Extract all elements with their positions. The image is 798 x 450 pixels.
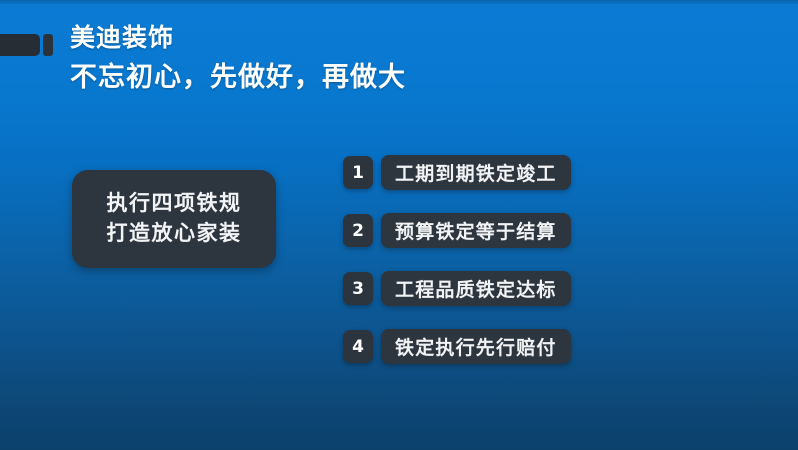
list-item-number: 1: [343, 156, 373, 189]
list-item: 2 预算铁定等于结算: [343, 213, 643, 248]
callout-card: 执行四项铁规 打造放心家装: [72, 170, 276, 268]
list-item-number: 4: [343, 330, 373, 363]
callout-line-2: 打造放心家装: [107, 219, 242, 249]
list-item-label: 工程品质铁定达标: [381, 271, 571, 306]
list-item: 1 工期到期铁定竣工: [343, 155, 643, 190]
list-item-label: 铁定执行先行赔付: [381, 329, 571, 364]
slide-slogan: 不忘初心，先做好，再做大: [70, 62, 670, 94]
slide-header: 美迪装饰 不忘初心，先做好，再做大: [70, 24, 670, 94]
list-item: 4 铁定执行先行赔付: [343, 329, 643, 364]
top-accent-band: [0, 0, 798, 4]
decorative-bar-icon: [0, 34, 40, 56]
slide-canvas: 美迪装饰 不忘初心，先做好，再做大 执行四项铁规 打造放心家装 1 工期到期铁定…: [0, 0, 798, 450]
list-item-number: 2: [343, 214, 373, 247]
list-item: 3 工程品质铁定达标: [343, 271, 643, 306]
rules-list: 1 工期到期铁定竣工 2 预算铁定等于结算 3 工程品质铁定达标 4 铁定执行先…: [343, 155, 643, 387]
list-item-number: 3: [343, 272, 373, 305]
list-item-label: 工期到期铁定竣工: [381, 155, 571, 190]
callout-line-1: 执行四项铁规: [107, 189, 242, 219]
brand-title: 美迪装饰: [70, 24, 670, 53]
list-item-label: 预算铁定等于结算: [381, 213, 571, 248]
decorative-tick-icon: [43, 34, 53, 56]
